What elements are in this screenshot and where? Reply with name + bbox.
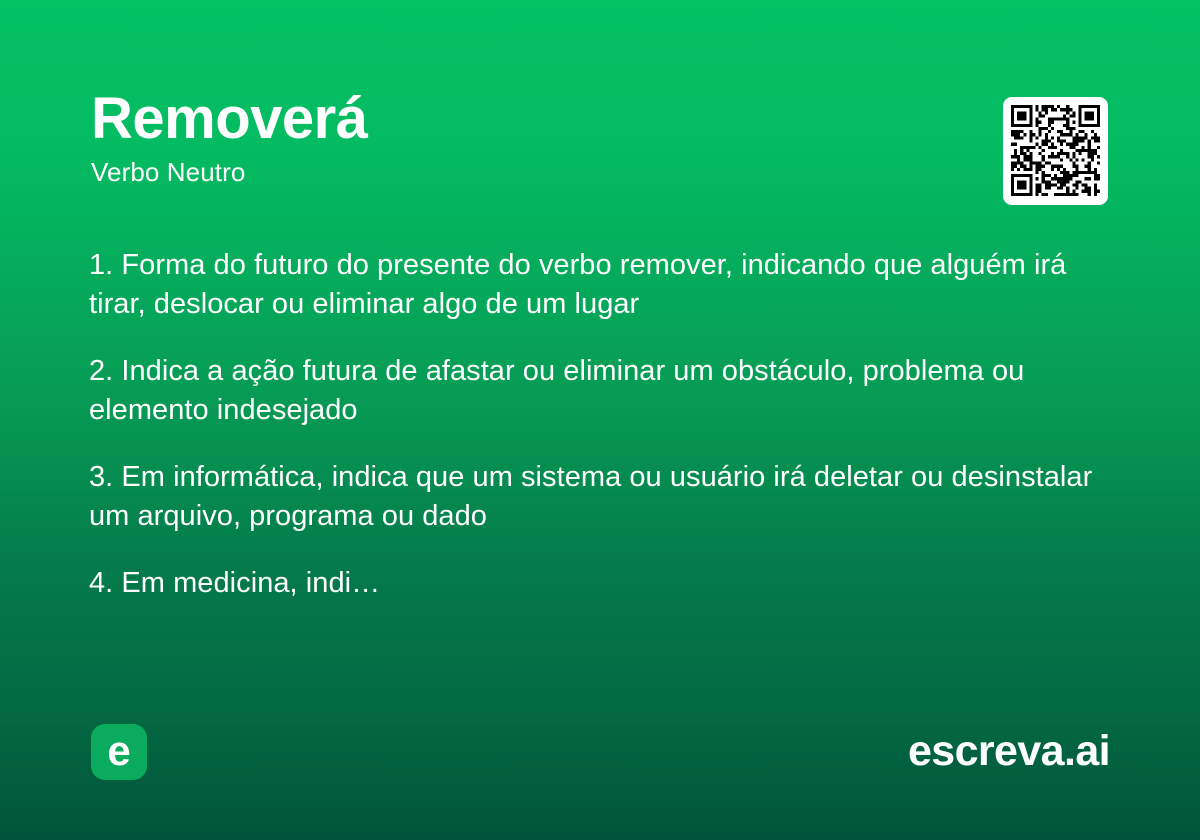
- definition-item: 2. Indica a ação futura de afastar ou el…: [89, 352, 1104, 430]
- qr-code-image: [1011, 105, 1100, 196]
- definition-item: 1. Forma do futuro do presente do verbo …: [89, 246, 1104, 324]
- page-title: Removerá: [91, 88, 951, 150]
- brand-logo-letter: e: [91, 730, 147, 772]
- definition-card: Removerá Verbo Neutro 1. Forma do futuro…: [0, 0, 1200, 840]
- definition-list: 1. Forma do futuro do presente do verbo …: [89, 246, 1104, 603]
- brand-logo-tile[interactable]: e: [91, 724, 147, 780]
- definition-item: 3. Em informática, indica que um sistema…: [89, 458, 1104, 536]
- word-class-label: Verbo Neutro: [91, 156, 951, 188]
- card-header: Removerá Verbo Neutro: [91, 88, 951, 188]
- brand-wordmark: escreva.ai: [908, 726, 1110, 776]
- qr-code[interactable]: [1003, 97, 1108, 205]
- definition-item: 4. Em medicina, indi…: [89, 564, 1104, 603]
